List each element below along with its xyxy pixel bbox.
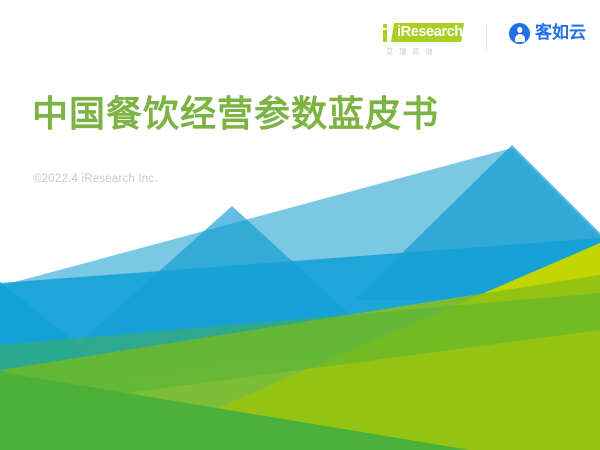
keruyun-wordmark-text: 客如云 (535, 23, 586, 44)
person-head-shape (517, 27, 523, 33)
shape-green-wash-left (0, 293, 600, 410)
person-body-shape (515, 34, 525, 42)
iresearch-logo: iResearch 艾瑞咨询 (380, 22, 464, 62)
shape-blue-ridge-main (0, 238, 600, 450)
page-title: 中国餐饮经营参数蓝皮书 (32, 92, 439, 138)
iresearch-i-dot (383, 24, 387, 28)
iresearch-wordmark-text: iResearch (397, 23, 463, 42)
shape-blue-wedge-left (0, 282, 210, 450)
shape-green-foreground (0, 372, 470, 450)
shape-green-slope-right (120, 243, 600, 450)
iresearch-subtitle: 艾瑞咨询 (386, 46, 438, 57)
shape-green-mid (0, 275, 600, 450)
iresearch-i-glyph-icon (382, 24, 390, 42)
report-cover-page: iResearch 艾瑞咨询 客如云 中国餐饮经营参数蓝皮书 ©2022.4 i… (0, 0, 600, 450)
person-in-circle-icon (509, 23, 530, 44)
shape-sky-peak-right (355, 145, 600, 300)
mountain-polygon-artwork (0, 0, 600, 450)
copyright-notice: ©2022.4 iResearch Inc. (33, 173, 158, 185)
iresearch-wordmark: iResearch (380, 22, 464, 44)
keruyun-logo: 客如云 (509, 23, 586, 44)
logo-bar: iResearch 艾瑞咨询 客如云 (380, 22, 586, 62)
logo-divider (486, 24, 487, 52)
shape-teal-overlap (0, 148, 600, 400)
shape-sky-peak-left (60, 206, 400, 360)
iresearch-i-stem (383, 30, 387, 42)
